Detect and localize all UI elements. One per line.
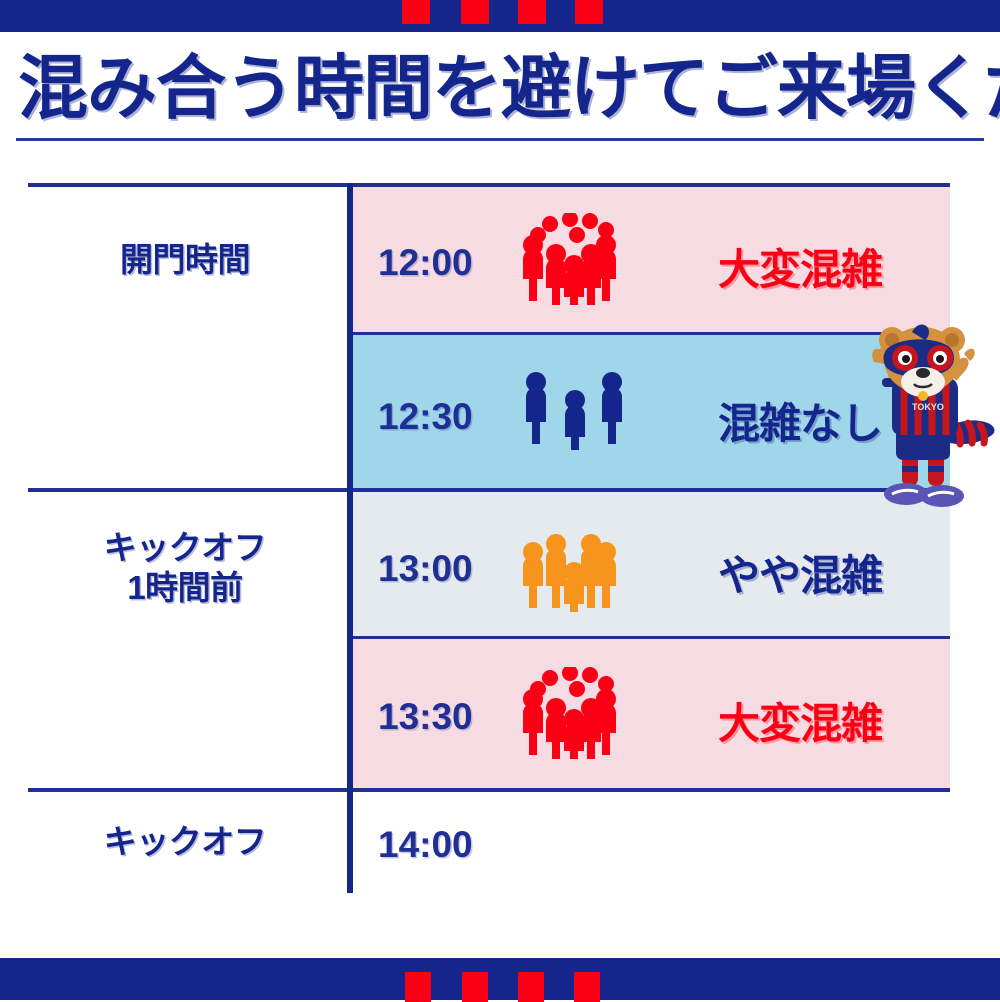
- dorompa-mascot: TOKYO: [852, 318, 1000, 510]
- bottom-banner: [0, 958, 1000, 1000]
- row-status-3: やや混雑: [718, 542, 882, 603]
- infographic-root: 混み合う時間を避けてご来場ください 開門時間 12:00: [0, 0, 1000, 1000]
- bottom-banner-tick-4: [574, 972, 600, 1002]
- bottom-banner-tick-3: [518, 972, 544, 1002]
- bottom-banner-tick-1: [405, 972, 431, 1002]
- rule-column-divider: [347, 183, 353, 893]
- row-label-5: キックオフ: [40, 822, 330, 862]
- row-time-2: 12:30: [378, 396, 473, 438]
- row-label-3-line2: 1時間前: [40, 568, 330, 608]
- svg-text:TOKYO: TOKYO: [912, 402, 944, 412]
- rule-row2-row3: [28, 488, 950, 492]
- row-status-1: 大変混雑: [718, 236, 882, 297]
- crowd-moderate-icon: [518, 520, 636, 612]
- schedule-table: 開門時間 12:00: [0, 0, 1000, 1000]
- row-label-1-text: 開門時間: [120, 241, 250, 278]
- crowd-heavy-icon: [518, 213, 636, 305]
- rule-table-top: [28, 183, 950, 187]
- row-status-4: 大変混雑: [718, 690, 882, 751]
- bottom-banner-ticks: [0, 958, 1000, 1000]
- bottom-banner-tick-2: [462, 972, 488, 1002]
- rule-row4-row5: [28, 788, 950, 792]
- rule-row3-row4: [350, 636, 950, 639]
- row-label-5-text: キックオフ: [104, 823, 267, 860]
- row-label-3-line1: キックオフ: [40, 528, 330, 568]
- row-time-4: 13:30: [378, 696, 473, 738]
- row-time-3: 13:00: [378, 548, 473, 590]
- crowd-none-icon: [520, 370, 630, 450]
- row-time-5: 14:00: [378, 824, 473, 866]
- row-label-1: 開門時間: [40, 240, 330, 280]
- row-time-1: 12:00: [378, 242, 473, 284]
- crowd-heavy-icon-2: [518, 667, 636, 759]
- row-label-3: キックオフ 1時間前: [40, 528, 330, 608]
